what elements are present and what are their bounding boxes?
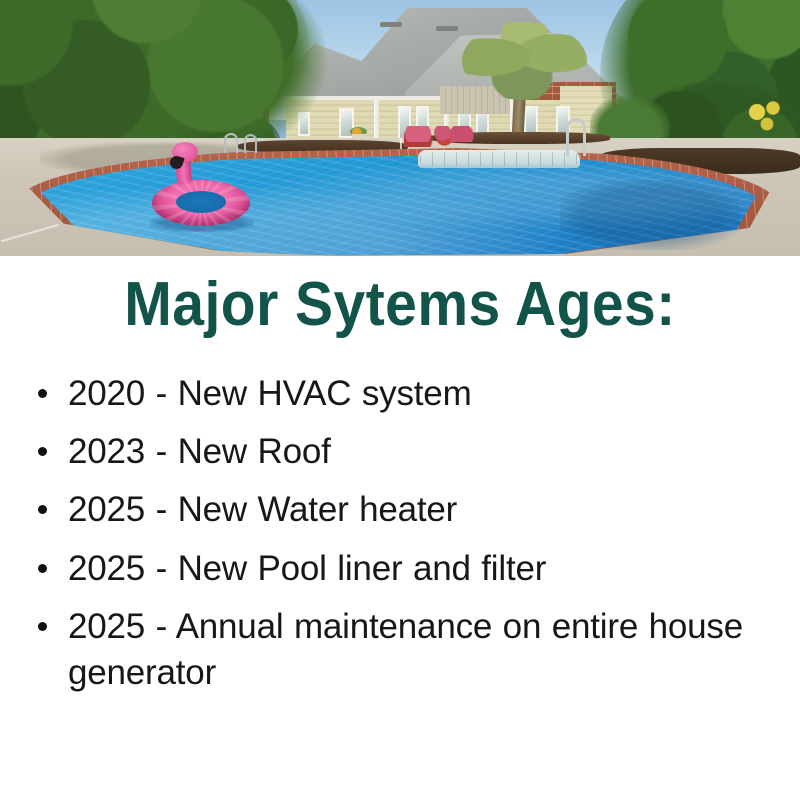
list-item-label: 2025 - New Water heater xyxy=(68,490,457,529)
systems-ages-list: 2020 - New HVAC system 2023 - New Roof 2… xyxy=(0,371,800,696)
bullet-icon xyxy=(38,622,47,631)
list-item: 2023 - New Roof xyxy=(34,429,786,475)
page-title: Major Sytems Ages: xyxy=(32,256,768,337)
bullet-icon xyxy=(38,447,47,456)
bullet-icon xyxy=(38,564,47,573)
roof-vent-icon xyxy=(380,22,402,27)
pool-ladder-rail xyxy=(224,133,238,153)
list-item: 2025 - Annual maintenance on entire hous… xyxy=(34,604,786,696)
pool-ladder-rail xyxy=(244,134,257,153)
pool-shadow-area xyxy=(560,180,740,250)
bullet-icon xyxy=(38,389,47,398)
pool-handrail xyxy=(566,118,586,156)
list-item-label: 2025 - Annual maintenance on entire hous… xyxy=(68,607,743,692)
flamingo-float-center xyxy=(176,191,226,213)
bullet-icon xyxy=(38,505,47,514)
palm-tree-fronds xyxy=(462,22,587,100)
list-item-label: 2025 - New Pool liner and filter xyxy=(68,549,546,588)
list-item-label: 2023 - New Roof xyxy=(68,432,331,471)
pink-flower-bed xyxy=(404,126,474,142)
list-item: 2025 - New Water heater xyxy=(34,487,786,533)
list-item: 2020 - New HVAC system xyxy=(34,371,786,417)
list-item: 2025 - New Pool liner and filter xyxy=(34,546,786,592)
yellow-flowers xyxy=(742,96,792,136)
text-content-area: Major Sytems Ages: 2020 - New HVAC syste… xyxy=(0,256,800,696)
backyard-pool-photo xyxy=(0,0,800,256)
listing-poster: Major Sytems Ages: 2020 - New HVAC syste… xyxy=(0,0,800,800)
roof-vent-icon xyxy=(436,26,458,31)
pool-step-treads xyxy=(420,152,578,166)
list-item-label: 2020 - New HVAC system xyxy=(68,374,472,413)
